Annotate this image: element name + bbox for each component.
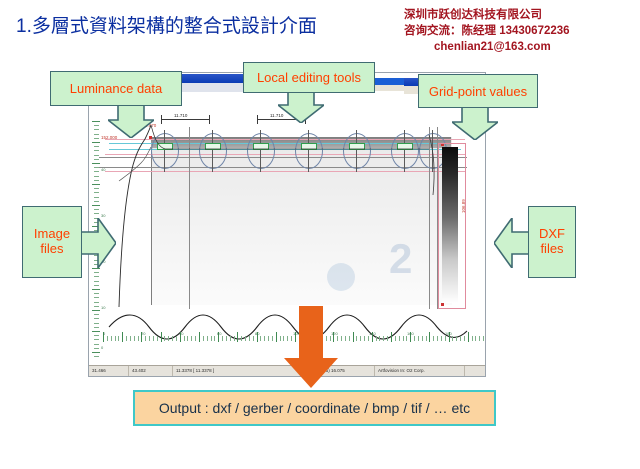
vruler-tick xyxy=(92,289,100,290)
vruler-tick xyxy=(94,192,99,193)
hruler-tick xyxy=(418,336,419,341)
vruler-tick xyxy=(92,331,100,332)
hruler-tick xyxy=(364,336,365,341)
vruler-tick xyxy=(94,297,99,298)
hruler-tick xyxy=(237,332,238,342)
hruler-tick xyxy=(349,336,350,341)
company-contact-block: 深圳市跃创达科技有限公司 咨询交流：陈经理 13430672236 chenli… xyxy=(404,8,570,55)
hruler-tick xyxy=(360,336,361,341)
grid-point-callout-arrow xyxy=(452,106,498,140)
hruler-tick xyxy=(472,336,473,341)
output-flow-arrow xyxy=(283,306,339,388)
hruler-tick xyxy=(207,336,208,341)
vruler-tick xyxy=(94,318,99,319)
hruler-tick xyxy=(253,336,254,341)
company-name: 深圳市跃创达科技有限公司 xyxy=(404,8,570,23)
vruler-tick xyxy=(94,344,99,345)
hruler-tick xyxy=(387,336,388,341)
hruler-tick xyxy=(184,336,185,341)
hruler-tick xyxy=(479,336,480,341)
hruler-tick xyxy=(145,336,146,341)
status-cell-y: 43.402 xyxy=(129,366,173,376)
hruler-tick xyxy=(199,332,200,342)
vruler-tick xyxy=(94,129,99,130)
vruler-tick xyxy=(94,348,99,349)
secondary-curve xyxy=(119,147,151,181)
vruler-label-0: 40 xyxy=(101,167,105,172)
hruler-label-1: 20 xyxy=(141,331,145,336)
vruler-tick xyxy=(92,268,100,269)
hruler-tick xyxy=(406,336,407,341)
local-tools-callout-arrow xyxy=(278,91,324,123)
luminance-profile-curve xyxy=(119,125,151,307)
hruler-tick xyxy=(226,336,227,341)
page-title: 1.多層式資料架構的整合式設計介面 xyxy=(16,11,317,38)
hruler-tick xyxy=(414,336,415,341)
vruler-tick xyxy=(94,293,99,294)
hruler-tick xyxy=(111,336,112,341)
callout-grid-point-label: Grid-point values xyxy=(429,84,527,99)
hruler-tick xyxy=(187,336,188,341)
hruler-tick xyxy=(264,336,265,341)
company-contact: 咨询交流：陈经理 13430672236 xyxy=(404,23,570,39)
vruler-tick xyxy=(94,171,99,172)
hruler-tick xyxy=(456,336,457,341)
hruler-tick xyxy=(157,336,158,341)
hruler-tick xyxy=(345,336,346,341)
vruler-tick xyxy=(94,125,99,126)
hruler-tick xyxy=(176,336,177,341)
vruler-tick xyxy=(94,146,99,147)
hruler-tick xyxy=(379,336,380,341)
hruler-tick xyxy=(441,336,442,341)
hruler-label-8: 160 xyxy=(407,331,414,336)
hruler-tick xyxy=(460,336,461,341)
vruler-tick xyxy=(94,272,99,273)
hruler-tick xyxy=(203,336,204,341)
hruler-tick xyxy=(153,336,154,341)
vruler-tick xyxy=(94,176,99,177)
hruler-tick xyxy=(138,336,139,341)
hruler-tick xyxy=(118,336,119,341)
luminance-callout-arrow xyxy=(108,104,154,138)
hruler-tick xyxy=(464,336,465,341)
hruler-tick xyxy=(426,336,427,341)
hruler-label-2: 40 xyxy=(179,331,183,336)
hruler-tick xyxy=(383,336,384,341)
hruler-tick xyxy=(126,336,127,341)
vruler-tick xyxy=(94,167,99,168)
vruler-tick xyxy=(94,201,99,202)
hruler-tick xyxy=(468,332,469,342)
hruler-tick xyxy=(241,336,242,341)
hruler-tick xyxy=(149,336,150,341)
callout-dxf-files-line1: DXF xyxy=(539,227,565,242)
hruler-tick xyxy=(172,336,173,341)
hruler-tick xyxy=(395,336,396,341)
hruler-label-9: 180 xyxy=(445,331,452,336)
vruler-tick xyxy=(92,352,100,353)
hruler-tick xyxy=(161,332,162,342)
vruler-tick xyxy=(94,356,99,357)
hruler-tick xyxy=(195,336,196,341)
vruler-tick xyxy=(94,327,99,328)
hruler-label-4: 80 xyxy=(255,331,259,336)
callout-local-editing-tools[interactable]: Local editing tools xyxy=(243,62,375,93)
callout-image-files-line2: files xyxy=(34,242,70,257)
vruler-tick xyxy=(94,188,99,189)
hruler-tick xyxy=(230,336,231,341)
vruler-tick xyxy=(92,121,100,122)
hruler-tick xyxy=(134,336,135,341)
top-edge-curve xyxy=(151,125,429,149)
hruler-tick xyxy=(356,336,357,341)
hruler-tick xyxy=(249,336,250,341)
hruler-tick xyxy=(122,332,123,342)
hruler-tick xyxy=(191,336,192,341)
callout-dxf-files[interactable]: DXF files xyxy=(528,206,576,278)
vruler-tick xyxy=(94,323,99,324)
hruler-tick xyxy=(422,336,423,341)
hruler-tick xyxy=(280,336,281,341)
vruler-tick xyxy=(92,310,100,311)
hruler-tick xyxy=(272,336,273,341)
vruler-tick xyxy=(94,335,99,336)
vruler-tick xyxy=(92,142,100,143)
slide-root: 1.多層式資料架構的整合式設計介面 深圳市跃创达科技有限公司 咨询交流：陈经理 … xyxy=(0,0,640,469)
hruler-tick xyxy=(341,336,342,341)
callout-image-files[interactable]: Image files xyxy=(22,206,82,278)
vruler-tick xyxy=(94,339,99,340)
vruler-tick xyxy=(92,184,100,185)
status-cell-vendor: Artfovision In: O2 Corp. xyxy=(375,366,465,376)
hruler-tick xyxy=(260,336,261,341)
hruler-tick xyxy=(376,336,377,341)
hruler-tick xyxy=(429,332,430,342)
hruler-tick xyxy=(107,336,108,341)
vruler-tick xyxy=(92,205,100,206)
callout-luminance-label: Luminance data xyxy=(70,81,163,96)
right-profile-curve xyxy=(429,135,434,195)
hruler-tick xyxy=(130,336,131,341)
hruler-tick xyxy=(403,336,404,341)
output-formats-box: Output : dxf / gerber / coordinate / bmp… xyxy=(133,390,496,426)
vruler-tick xyxy=(94,285,99,286)
hruler-tick xyxy=(483,336,484,341)
vruler-tick xyxy=(94,134,99,135)
hruler-tick xyxy=(391,332,392,342)
hruler-tick xyxy=(168,336,169,341)
hruler-tick xyxy=(437,336,438,341)
status-cell-x: 31.466 xyxy=(89,366,129,376)
company-email: chenlian21@163.com xyxy=(404,39,570,55)
vruler-tick xyxy=(94,180,99,181)
hruler-tick xyxy=(276,332,277,342)
callout-grid-point-values[interactable]: Grid-point values xyxy=(418,74,538,108)
hruler-tick xyxy=(445,336,446,341)
hruler-tick xyxy=(234,336,235,341)
hruler-tick xyxy=(268,336,269,341)
hruler-tick xyxy=(452,336,453,341)
hruler-label-3: 60 xyxy=(217,331,221,336)
vruler-tick xyxy=(94,197,99,198)
hruler-tick xyxy=(115,336,116,341)
vruler-tick xyxy=(94,150,99,151)
callout-image-files-line1: Image xyxy=(34,227,70,242)
vruler-tick xyxy=(94,159,99,160)
hruler-tick xyxy=(245,336,246,341)
hruler-tick xyxy=(211,336,212,341)
vruler-tick xyxy=(94,276,99,277)
vruler-tick xyxy=(94,306,99,307)
callout-local-tools-label: Local editing tools xyxy=(257,70,361,85)
vruler-tick xyxy=(94,213,99,214)
vruler-tick xyxy=(94,155,99,156)
hruler-tick xyxy=(399,336,400,341)
vruler-tick xyxy=(94,209,99,210)
vruler-tick xyxy=(94,302,99,303)
vruler-tick xyxy=(94,138,99,139)
vruler-tick xyxy=(94,281,99,282)
vruler-tick xyxy=(94,314,99,315)
vruler-label-4: 0 xyxy=(101,345,103,350)
hruler-tick xyxy=(475,336,476,341)
hruler-label-7: 140 xyxy=(369,331,376,336)
vruler-label-3: 10 xyxy=(101,305,105,310)
dxf-files-callout-arrow xyxy=(494,218,530,268)
image-files-callout-arrow xyxy=(80,218,116,268)
output-formats-label: Output : dxf / gerber / coordinate / bmp… xyxy=(159,400,470,416)
vruler-tick xyxy=(92,163,100,164)
hruler-tick xyxy=(222,336,223,341)
hruler-tick xyxy=(353,332,354,342)
hruler-label-0: 0 xyxy=(103,331,105,336)
hruler-tick xyxy=(164,336,165,341)
hruler-tick xyxy=(214,336,215,341)
hruler-tick xyxy=(433,336,434,341)
hruler-tick xyxy=(368,336,369,341)
callout-dxf-files-line2: files xyxy=(539,242,565,257)
callout-luminance-data[interactable]: Luminance data xyxy=(50,71,182,106)
